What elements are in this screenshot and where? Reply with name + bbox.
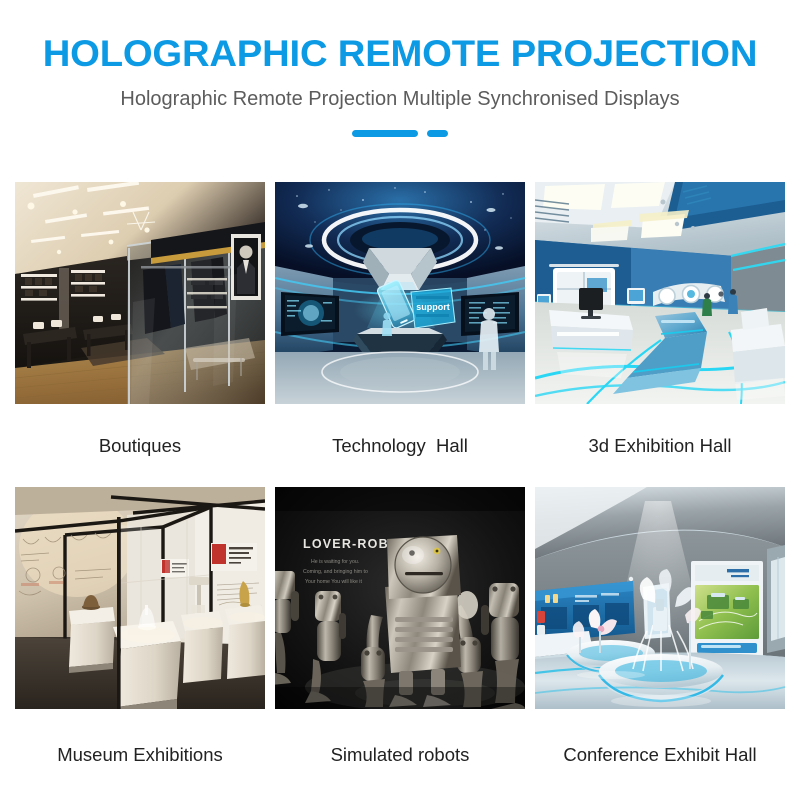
svg-text:Your home You will like it: Your home You will like it bbox=[305, 579, 362, 585]
gallery-label-conference-exhibit-hall: Conference Exhibit Hall bbox=[535, 709, 785, 800]
thumbnail-simulated-robots[interactable]: LOVER-ROBERT He is waiting for you. Comi… bbox=[275, 487, 525, 709]
gallery-item-boutiques[interactable]: Boutiques bbox=[15, 182, 265, 487]
thumbnail-boutiques[interactable] bbox=[15, 182, 265, 404]
robot-subtext: He is waiting for you. Coming, and bring… bbox=[303, 559, 368, 585]
exhibition-hall-image bbox=[535, 182, 785, 404]
museum-exhibition-image bbox=[15, 487, 265, 709]
gallery-item-technology-hall[interactable]: support bbox=[275, 182, 525, 487]
conference-hall-image bbox=[535, 487, 785, 709]
boutique-interior-image bbox=[15, 182, 265, 404]
gallery-label-boutiques: Boutiques bbox=[15, 404, 265, 487]
svg-text:He is waiting for you.: He is waiting for you. bbox=[311, 559, 359, 565]
divider-long-bar bbox=[352, 130, 418, 137]
gallery-label-technology-hall: Technology Hall bbox=[275, 404, 525, 487]
gallery-label-3d-exhibition-hall: 3d Exhibition Hall bbox=[535, 404, 785, 487]
gallery-item-simulated-robots[interactable]: LOVER-ROBERT He is waiting for you. Comi… bbox=[275, 487, 525, 800]
svg-text:Coming, and bringing him to: Coming, and bringing him to bbox=[303, 569, 368, 575]
header-divider bbox=[0, 129, 800, 137]
gallery-item-conference-exhibit-hall[interactable]: Conference Exhibit Hall bbox=[535, 487, 785, 800]
gallery-item-3d-exhibition-hall[interactable]: 3d Exhibition Hall bbox=[535, 182, 785, 487]
page-header: HOLOGRAPHIC REMOTE PROJECTION Holographi… bbox=[0, 0, 800, 137]
page-subtitle: Holographic Remote Projection Multiple S… bbox=[0, 87, 800, 111]
page-title: HOLOGRAPHIC REMOTE PROJECTION bbox=[0, 34, 800, 73]
gallery-label-simulated-robots: Simulated robots bbox=[275, 709, 525, 800]
page-root: HOLOGRAPHIC REMOTE PROJECTION Holographi… bbox=[0, 0, 800, 800]
thumbnail-technology-hall[interactable]: support bbox=[275, 182, 525, 404]
thumbnail-3d-exhibition-hall[interactable] bbox=[535, 182, 785, 404]
thumbnail-conference-exhibit-hall[interactable] bbox=[535, 487, 785, 709]
gallery-label-museum-exhibitions: Museum Exhibitions bbox=[15, 709, 265, 800]
hologram-support-label: support bbox=[416, 302, 450, 312]
simulated-robots-image: LOVER-ROBERT He is waiting for you. Comi… bbox=[275, 487, 525, 709]
thumbnail-museum-exhibitions[interactable] bbox=[15, 487, 265, 709]
technology-hall-image: support bbox=[275, 182, 525, 404]
divider-short-bar bbox=[427, 130, 448, 137]
gallery-grid: Boutiques bbox=[15, 182, 785, 800]
gallery-item-museum-exhibitions[interactable]: Museum Exhibitions bbox=[15, 487, 265, 800]
